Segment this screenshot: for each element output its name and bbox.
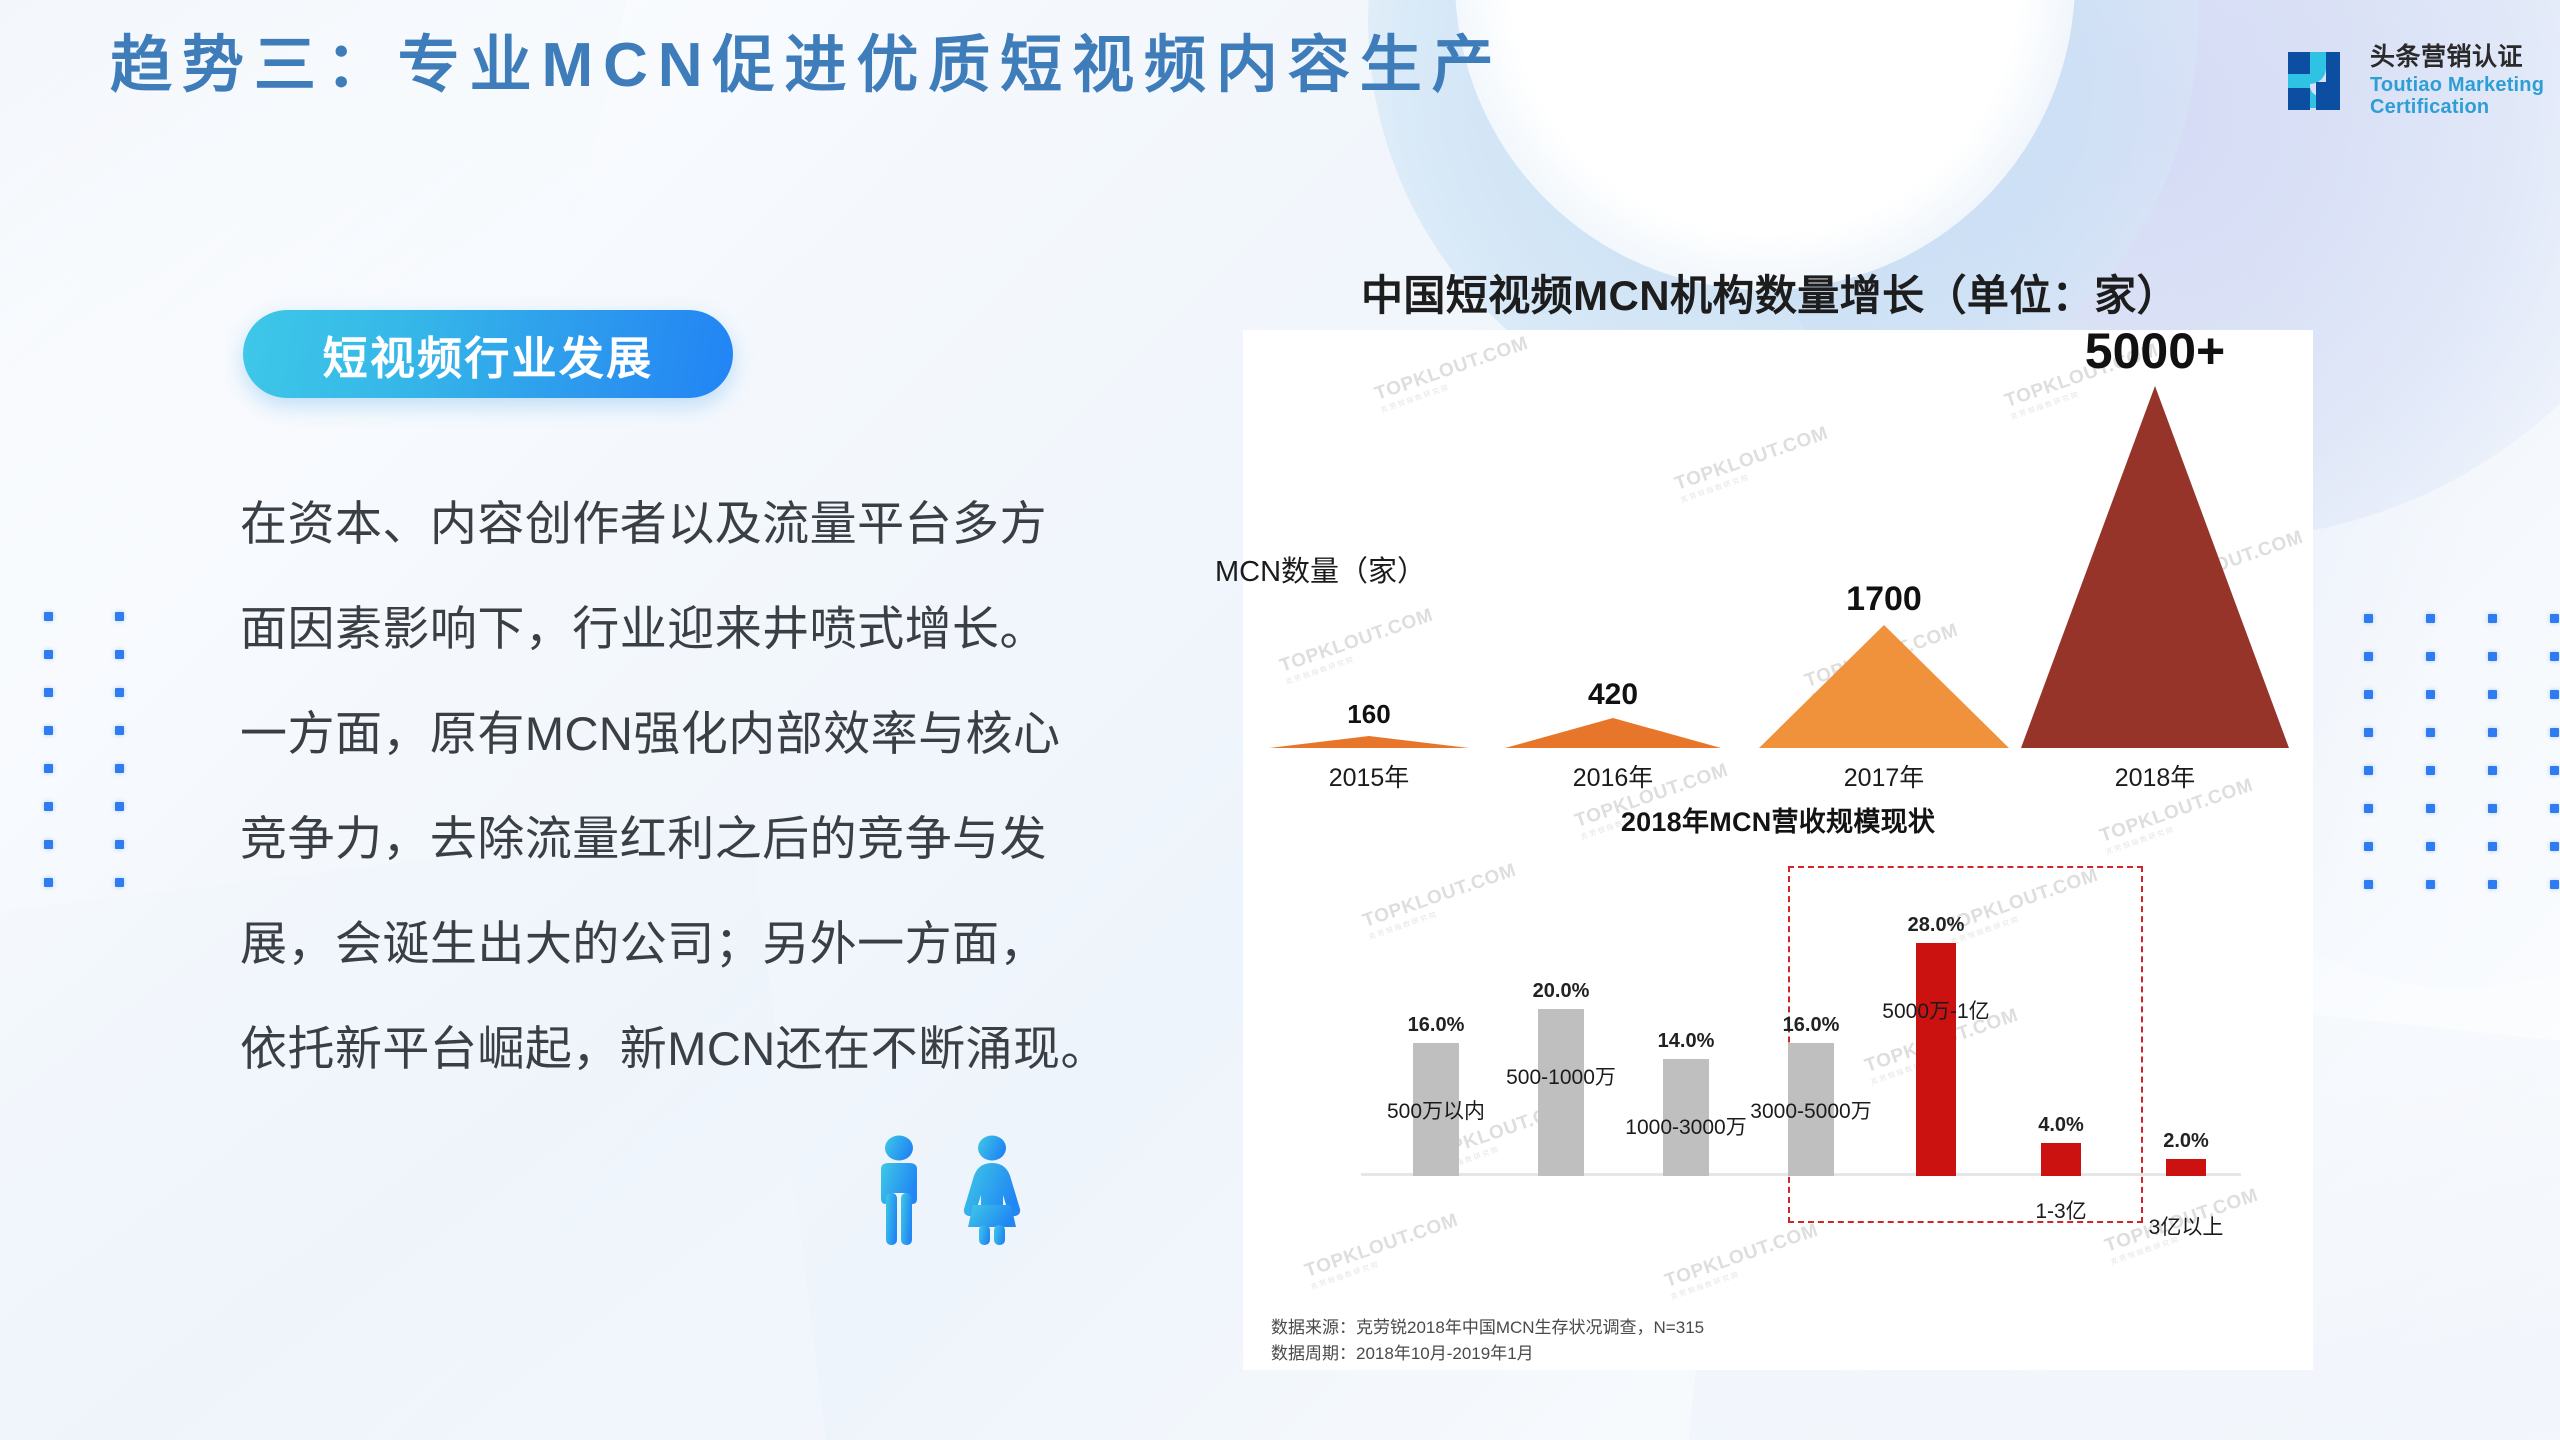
bar-rect [2166, 1159, 2206, 1176]
decorative-dot [2364, 614, 2373, 623]
people-icons [868, 1135, 1028, 1247]
bar-category-label: 500-1000万 [1492, 1061, 1630, 1091]
decorative-dot [44, 612, 53, 621]
decorative-dot [44, 764, 53, 773]
triangle-value-label: 160 [1269, 699, 1469, 730]
decorative-dot [2488, 766, 2497, 775]
bar-category-label: 3000-5000万 [1742, 1095, 1880, 1125]
bar-value-label: 28.0% [1881, 914, 1991, 937]
decorative-dot [2426, 766, 2435, 775]
bar-chart-plot: 16.0%500万以内20.0%500-1000万14.0%1000-3000万… [1361, 888, 2241, 1218]
bar-column: 16.0%500万以内 [1381, 1043, 1491, 1176]
body-paragraph-line: 竞争力，去除流量红利之后的竞争与发 [240, 815, 1170, 862]
decorative-dot [2488, 804, 2497, 813]
dot-grid-right [2364, 614, 2560, 889]
bar-column: 16.0%3000-5000万 [1756, 1043, 1866, 1176]
bar-column: 4.0%1-3亿 [2006, 1143, 2116, 1176]
triangle-category-label: 2018年 [2021, 758, 2289, 794]
brand-logo: 头条营销认证 Toutiao Marketing Certification [2286, 44, 2544, 118]
footnote-line: 数据来源：克劳锐2018年中国MCN生存状况调查，N=315 [1271, 1315, 1704, 1341]
triangle-value-label: 420 [1505, 678, 1721, 712]
bar-column: 28.0%5000万-1亿 [1881, 943, 1991, 1176]
chart-heading: 中国短视频MCN机构数量增长（单位：家） [1320, 262, 2220, 323]
decorative-dot [115, 726, 124, 735]
decorative-dot [44, 840, 53, 849]
chart-footnotes: 数据来源：克劳锐2018年中国MCN生存状况调查，N=315数据周期：2018年… [1271, 1315, 1704, 1368]
decorative-dot [2488, 614, 2497, 623]
page-title: 趋势三：专业MCN促进优质短视频内容生产 [110, 28, 1504, 104]
brand-name-en-line2: Certification [2370, 96, 2544, 118]
triangle-value-label: 1700 [1759, 580, 2009, 619]
triangle-chart-ylabel: MCN数量（家） [1215, 548, 1426, 590]
toutiao-logo-mark-icon [2286, 46, 2356, 116]
decorative-dot [2550, 652, 2559, 661]
bar-column: 20.0%500-1000万 [1506, 1009, 1616, 1176]
mcn-revenue-bar-chart: 2018年MCN营收规模现状 16.0%500万以内20.0%500-1000万… [1243, 800, 2313, 1300]
bar-value-label: 14.0% [1631, 1030, 1741, 1053]
bar-value-label: 2.0% [2131, 1130, 2241, 1153]
decorative-dot [2550, 880, 2559, 889]
bar-column: 14.0%1000-3000万 [1631, 1059, 1741, 1176]
section-badge: 短视频行业发展 [243, 310, 733, 398]
decorative-dot [115, 650, 124, 659]
decorative-dot [2488, 690, 2497, 699]
triangle-value-label: 5000+ [2021, 322, 2289, 380]
bar-column: 2.0%3亿以上 [2131, 1159, 2241, 1176]
decorative-dot [115, 688, 124, 697]
decorative-dot [2364, 652, 2373, 661]
decorative-dot [44, 878, 53, 887]
decorative-dot [2364, 842, 2373, 851]
decorative-dot [2364, 766, 2373, 775]
decorative-dot [2426, 880, 2435, 889]
bar-value-label: 20.0% [1506, 980, 1616, 1003]
bar-rect [1538, 1009, 1584, 1176]
bar-chart-title: 2018年MCN营收规模现状 [1243, 800, 2313, 839]
decorative-dot [2426, 728, 2435, 737]
body-paragraph-line: 在资本、内容创作者以及流量平台多方 [240, 500, 1170, 547]
decorative-dot [2426, 690, 2435, 699]
decorative-dot [115, 878, 124, 887]
decorative-dot [2550, 614, 2559, 623]
decorative-dot [115, 764, 124, 773]
body-copy: 在资本、内容创作者以及流量平台多方面因素影响下，行业迎来井喷式增长。一方面，原有… [240, 500, 1170, 1072]
bar-value-label: 16.0% [1381, 1014, 1491, 1037]
decorative-dot [2488, 728, 2497, 737]
decorative-dot [44, 726, 53, 735]
decorative-dot [2550, 804, 2559, 813]
bar-value-label: 4.0% [2006, 1114, 2116, 1137]
decorative-dot [2550, 842, 2559, 851]
triangle-bar-column: 420 [1505, 678, 1721, 748]
decorative-dot [2426, 804, 2435, 813]
brand-logo-text: 头条营销认证 Toutiao Marketing Certification [2370, 44, 2544, 118]
triangle-shape [2021, 386, 2289, 748]
chart-card: TOPKLOUT.COM克劳锐指数研究院TOPKLOUT.COM克劳锐指数研究院… [1243, 330, 2313, 1370]
decorative-dot [2488, 842, 2497, 851]
decorative-dot [2364, 690, 2373, 699]
triangle-shape [1759, 625, 2009, 748]
decorative-dot [2426, 652, 2435, 661]
decorative-dot [2550, 728, 2559, 737]
bar-category-label: 3亿以上 [2117, 1211, 2255, 1241]
triangle-bar-column: 160 [1269, 699, 1469, 748]
brand-name-en-line1: Toutiao Marketing [2370, 74, 2544, 96]
decorative-dot [2488, 652, 2497, 661]
bar-rect [2041, 1143, 2081, 1176]
triangle-bar-column: 5000+ [2021, 322, 2289, 748]
bar-category-label: 1-3亿 [1992, 1195, 2130, 1225]
triangle-category-label: 2017年 [1759, 758, 2009, 794]
decorative-dot [2364, 880, 2373, 889]
bar-category-label: 5000万-1亿 [1867, 995, 2005, 1025]
female-figure-icon [956, 1135, 1028, 1247]
mcn-count-triangle-chart: MCN数量（家） 1602015年4202016年17002017年5000+2… [1243, 330, 2313, 800]
body-paragraph-line: 面因素影响下，行业迎来井喷式增长。 [240, 605, 1170, 652]
slide-canvas: 趋势三：专业MCN促进优质短视频内容生产 头条营销认证 Toutiao Mark… [0, 0, 2560, 1440]
decorative-dot [2488, 880, 2497, 889]
section-badge-label: 短视频行业发展 [323, 322, 654, 387]
decorative-dot [44, 688, 53, 697]
bar-category-label: 1000-3000万 [1617, 1111, 1755, 1141]
decorative-dot [115, 840, 124, 849]
body-paragraph-line: 一方面，原有MCN强化内部效率与核心 [240, 710, 1170, 757]
triangle-bar-column: 1700 [1759, 580, 2009, 748]
white-circle [1455, 0, 2075, 290]
decorative-dot [2426, 842, 2435, 851]
decorative-dot [2364, 728, 2373, 737]
dot-grid-left [44, 612, 124, 887]
decorative-dot [2550, 690, 2559, 699]
triangle-category-label: 2016年 [1505, 758, 1721, 794]
bar-value-label: 16.0% [1756, 1014, 1866, 1037]
bar-rect [1916, 943, 1956, 1176]
triangle-shape [1269, 736, 1469, 748]
body-paragraph-line: 依托新平台崛起，新MCN还在不断涌现。 [240, 1025, 1170, 1072]
bar-category-label: 500万以内 [1367, 1095, 1505, 1125]
decorative-dot [44, 650, 53, 659]
triangle-shape [1505, 718, 1721, 748]
decorative-dot [2426, 614, 2435, 623]
decorative-dot [2550, 766, 2559, 775]
brand-name-cn: 头条营销认证 [2370, 44, 2544, 72]
decorative-dot [115, 802, 124, 811]
decorative-dot [2364, 804, 2373, 813]
decorative-dot [44, 802, 53, 811]
triangle-category-label: 2015年 [1269, 758, 1469, 794]
male-figure-icon [868, 1135, 930, 1247]
footnote-line: 数据周期：2018年10月-2019年1月 [1271, 1341, 1704, 1367]
body-paragraph-line: 展，会诞生出大的公司；另外一方面， [240, 920, 1170, 967]
decorative-dot [115, 612, 124, 621]
